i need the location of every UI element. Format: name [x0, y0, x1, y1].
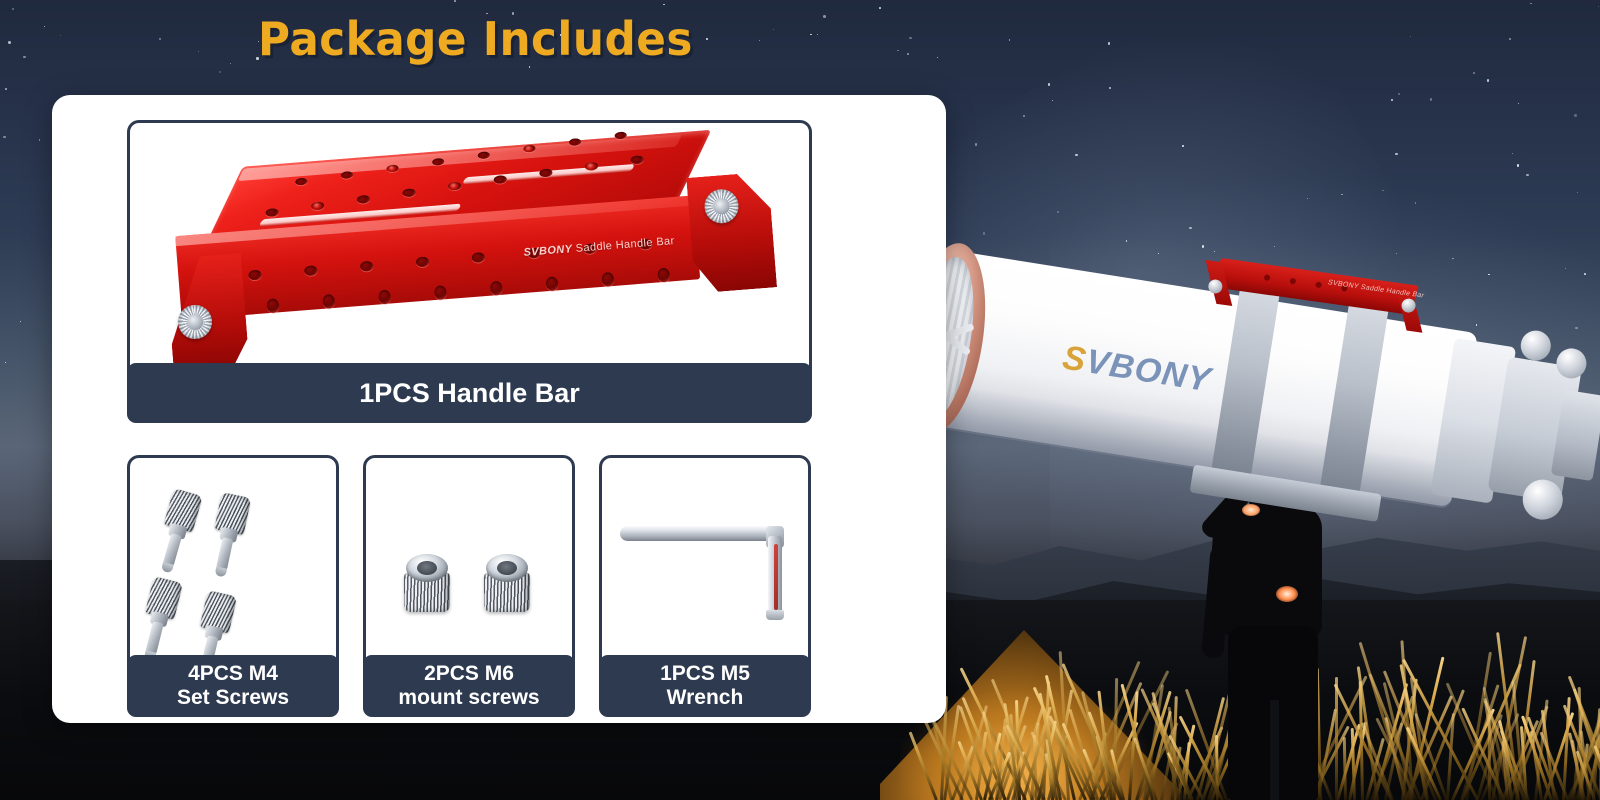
star-icon: [1075, 154, 1078, 157]
star-icon: [5, 88, 7, 90]
grass-tuft-icon: [1560, 680, 1600, 800]
star-icon: [198, 51, 199, 52]
star-icon: [1410, 36, 1411, 37]
star-icon: [1473, 72, 1475, 74]
label-wrench-line2: Wrench: [667, 686, 744, 710]
star-icon: [1009, 39, 1010, 40]
star-icon: [879, 7, 881, 9]
wrench-long-arm: [620, 526, 782, 541]
label-handle-bar-text: 1PCS Handle Bar: [359, 378, 580, 408]
label-mount-screws-line1: 2PCS M6: [424, 662, 514, 686]
star-icon: [1048, 83, 1050, 85]
label-wrench-line1: 1PCS M5: [660, 662, 750, 686]
hand-light-glow-icon: [1276, 586, 1298, 602]
package-includes-panel: SVBONY Saddle Handle Bar 1PCS Handle Bar: [52, 95, 946, 723]
page-title: Package Includes: [258, 12, 693, 66]
star-icon: [1487, 79, 1489, 81]
label-mount-screws-line2: mount screws: [398, 686, 539, 710]
label-handle-bar: 1PCS Handle Bar: [127, 363, 812, 423]
focus-knob-icon: [1519, 328, 1553, 362]
star-icon: [937, 57, 938, 58]
screw-tip: [215, 566, 228, 577]
star-icon: [773, 29, 774, 30]
grass-tuft-icon: [930, 690, 1070, 800]
red-handle-bar-icon: SVBONY Saddle Handle Bar: [152, 135, 792, 385]
mount-screw-hex-socket: [417, 561, 437, 575]
mount-screw-hex-socket: [497, 561, 517, 575]
star-icon: [1574, 114, 1577, 117]
star-icon: [8, 41, 11, 44]
star-icon: [817, 34, 818, 35]
star-icon: [454, 0, 456, 2]
label-set-screws: 4PCS M4 Set Screws: [127, 655, 339, 717]
label-mount-screws: 2PCS M6 mount screws: [363, 655, 575, 717]
refractor-telescope-icon: SVBONY Saddle Handle Bar: [890, 175, 1600, 505]
label-set-screws-line2: Set Screws: [177, 686, 289, 710]
person-leg-split: [1270, 700, 1279, 800]
label-set-screws-line1: 4PCS M4: [188, 662, 278, 686]
star-icon: [1395, 153, 1397, 155]
star-icon: [5, 362, 6, 363]
label-wrench: 1PCS M5 Wrench: [599, 655, 811, 717]
star-icon: [909, 37, 912, 40]
star-icon: [219, 71, 221, 73]
product-card-handle-bar[interactable]: SVBONY Saddle Handle Bar: [127, 120, 812, 395]
star-icon: [1182, 145, 1184, 147]
wrench-red-stripe: [774, 544, 778, 610]
wrench-tip: [766, 610, 784, 620]
star-icon: [759, 40, 760, 41]
hex-wrench-icon: [616, 498, 806, 638]
screw-tip: [161, 562, 174, 574]
star-icon: [23, 56, 25, 58]
star-icon: [823, 15, 826, 18]
star-icon: [1108, 42, 1110, 44]
